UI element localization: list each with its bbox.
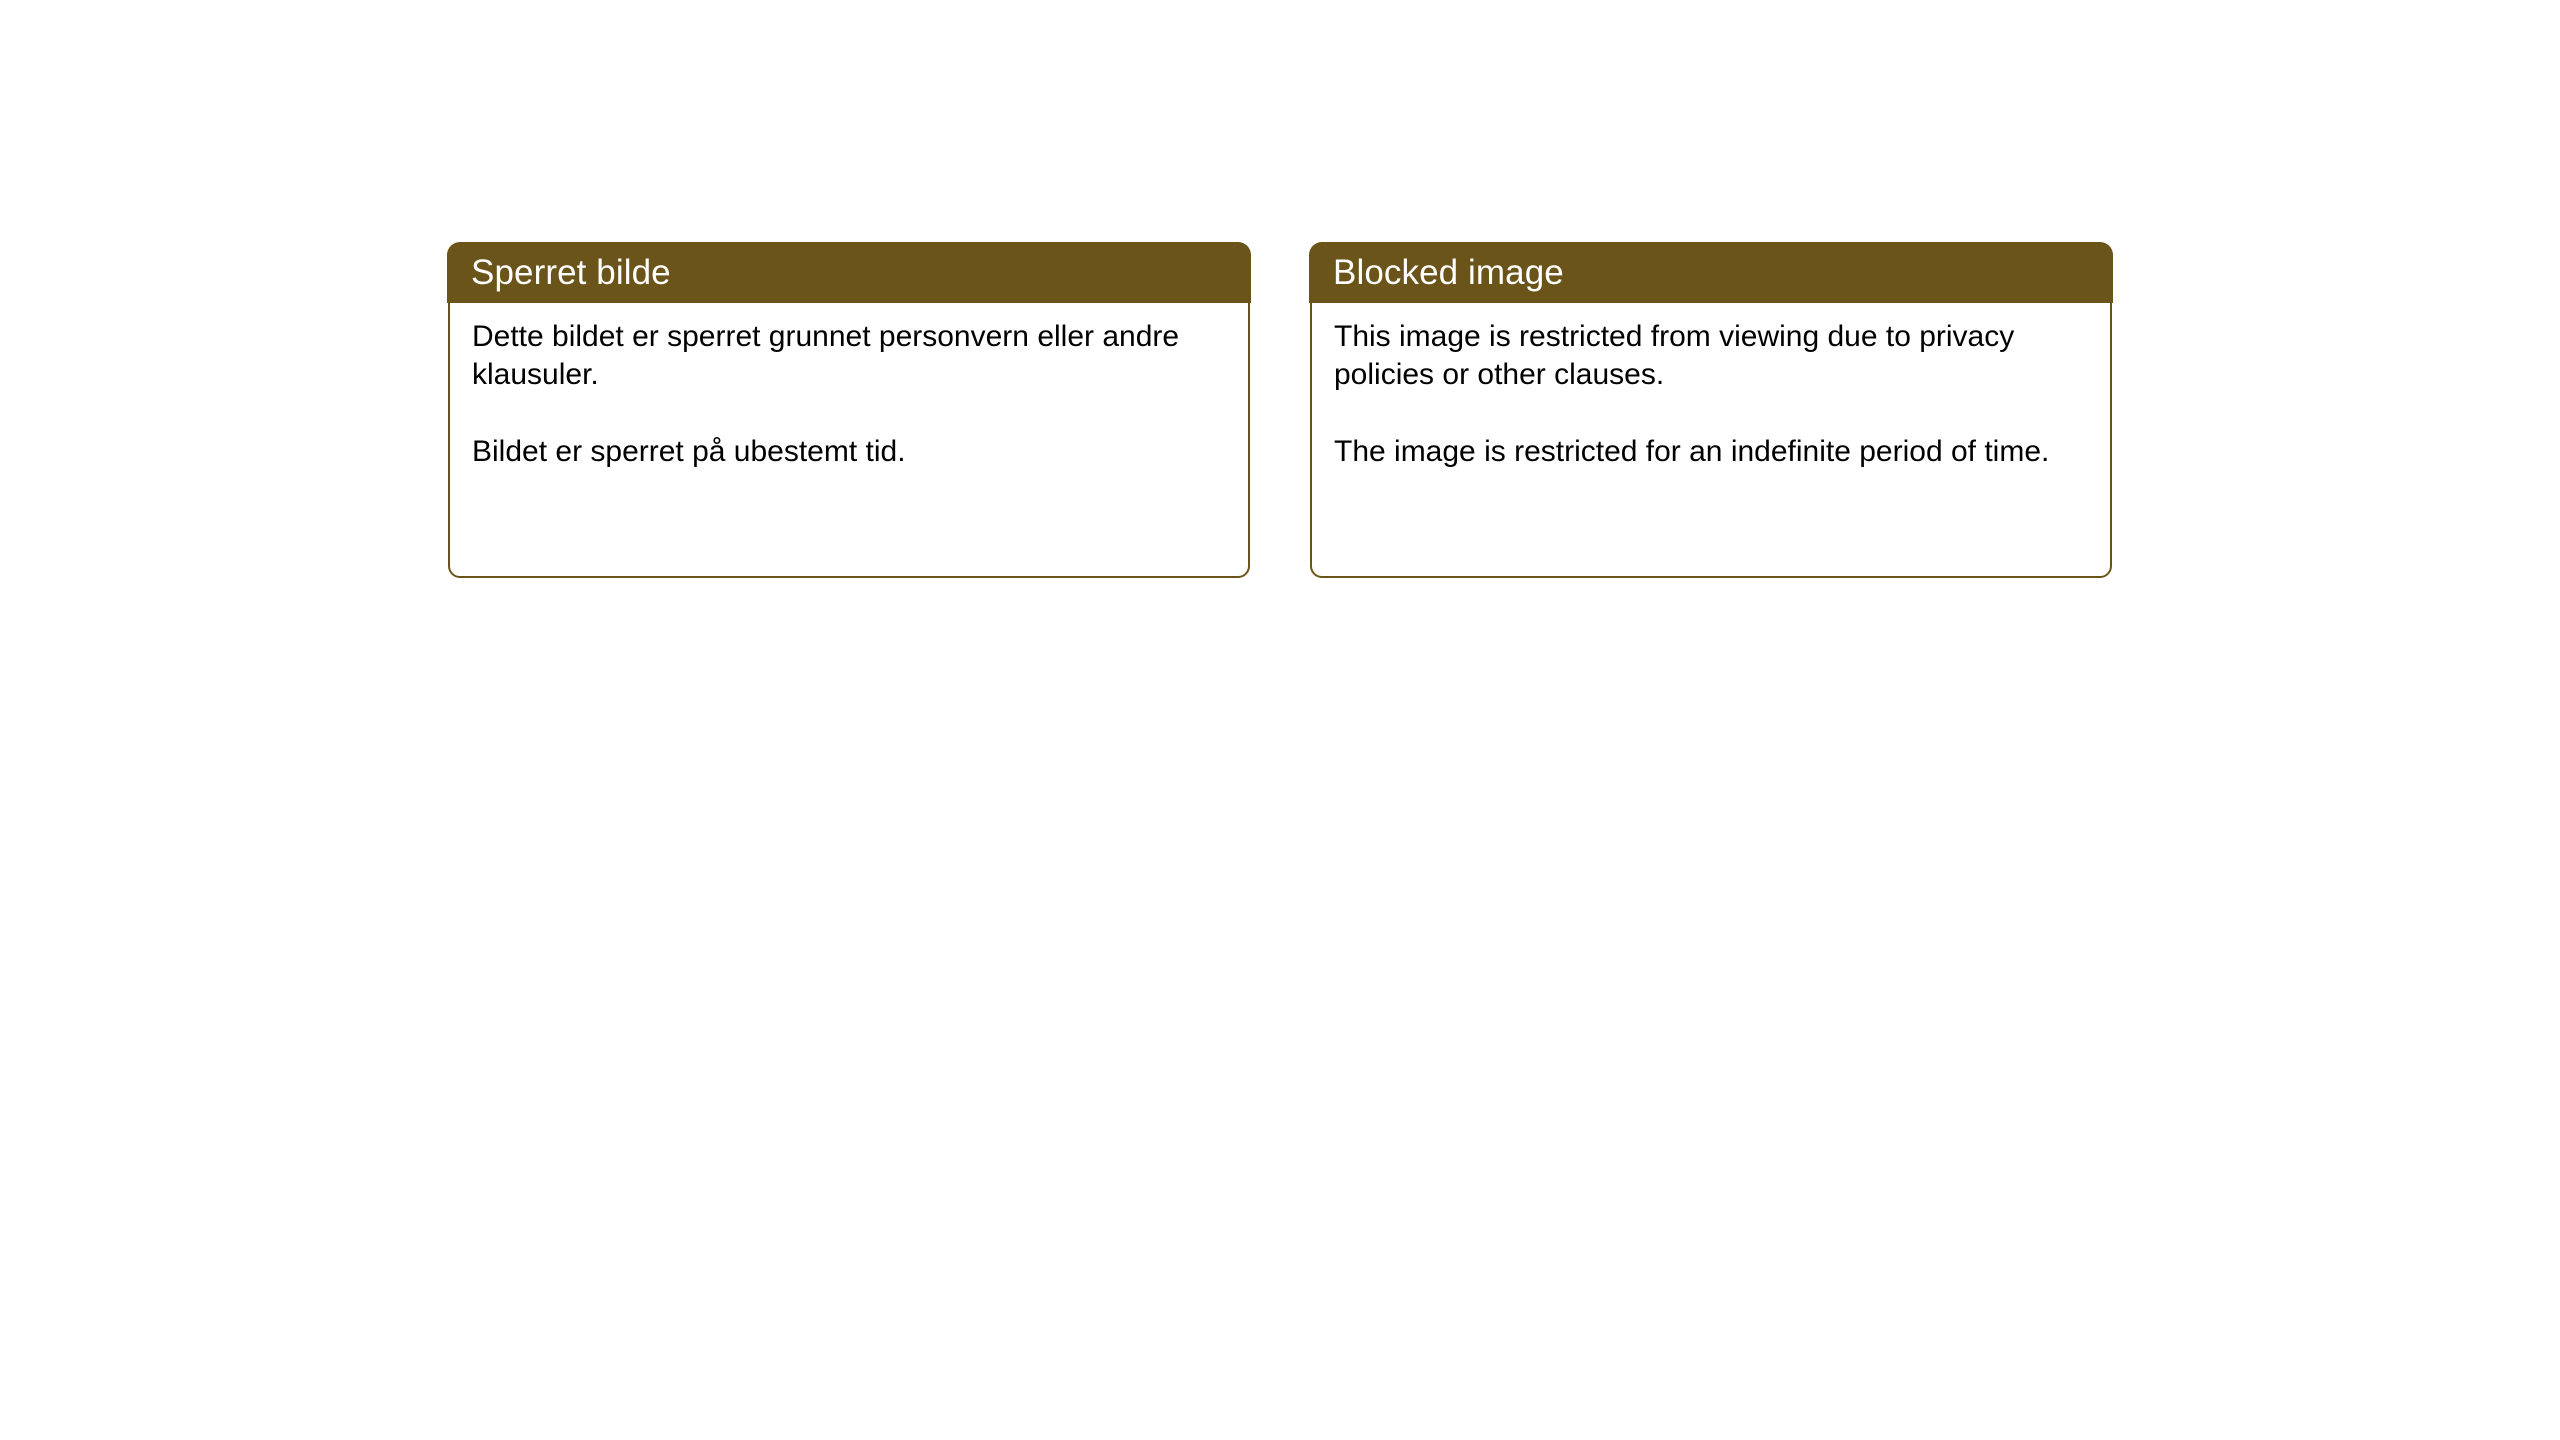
card-title: Blocked image (1333, 253, 1564, 292)
card-paragraph-reason: This image is restricted from viewing du… (1334, 318, 2090, 395)
card-content: Dette bildet er sperret grunnet personve… (448, 304, 1250, 578)
blocked-image-notice-card-norwegian: Sperret bilde Dette bildet er sperret gr… (448, 243, 1250, 578)
card-title: Sperret bilde (471, 253, 671, 292)
blocked-image-notice-card-english: Blocked image This image is restricted f… (1310, 243, 2112, 578)
card-content: This image is restricted from viewing du… (1310, 304, 2112, 578)
card-paragraph-duration: Bildet er sperret på ubestemt tid. (472, 433, 1228, 471)
card-header-bar: Sperret bilde (447, 242, 1251, 303)
card-header-bar: Blocked image (1309, 242, 2113, 303)
page-root: Sperret bilde Dette bildet er sperret gr… (0, 0, 2560, 1440)
card-paragraph-duration: The image is restricted for an indefinit… (1334, 433, 2090, 471)
card-paragraph-reason: Dette bildet er sperret grunnet personve… (472, 318, 1228, 395)
